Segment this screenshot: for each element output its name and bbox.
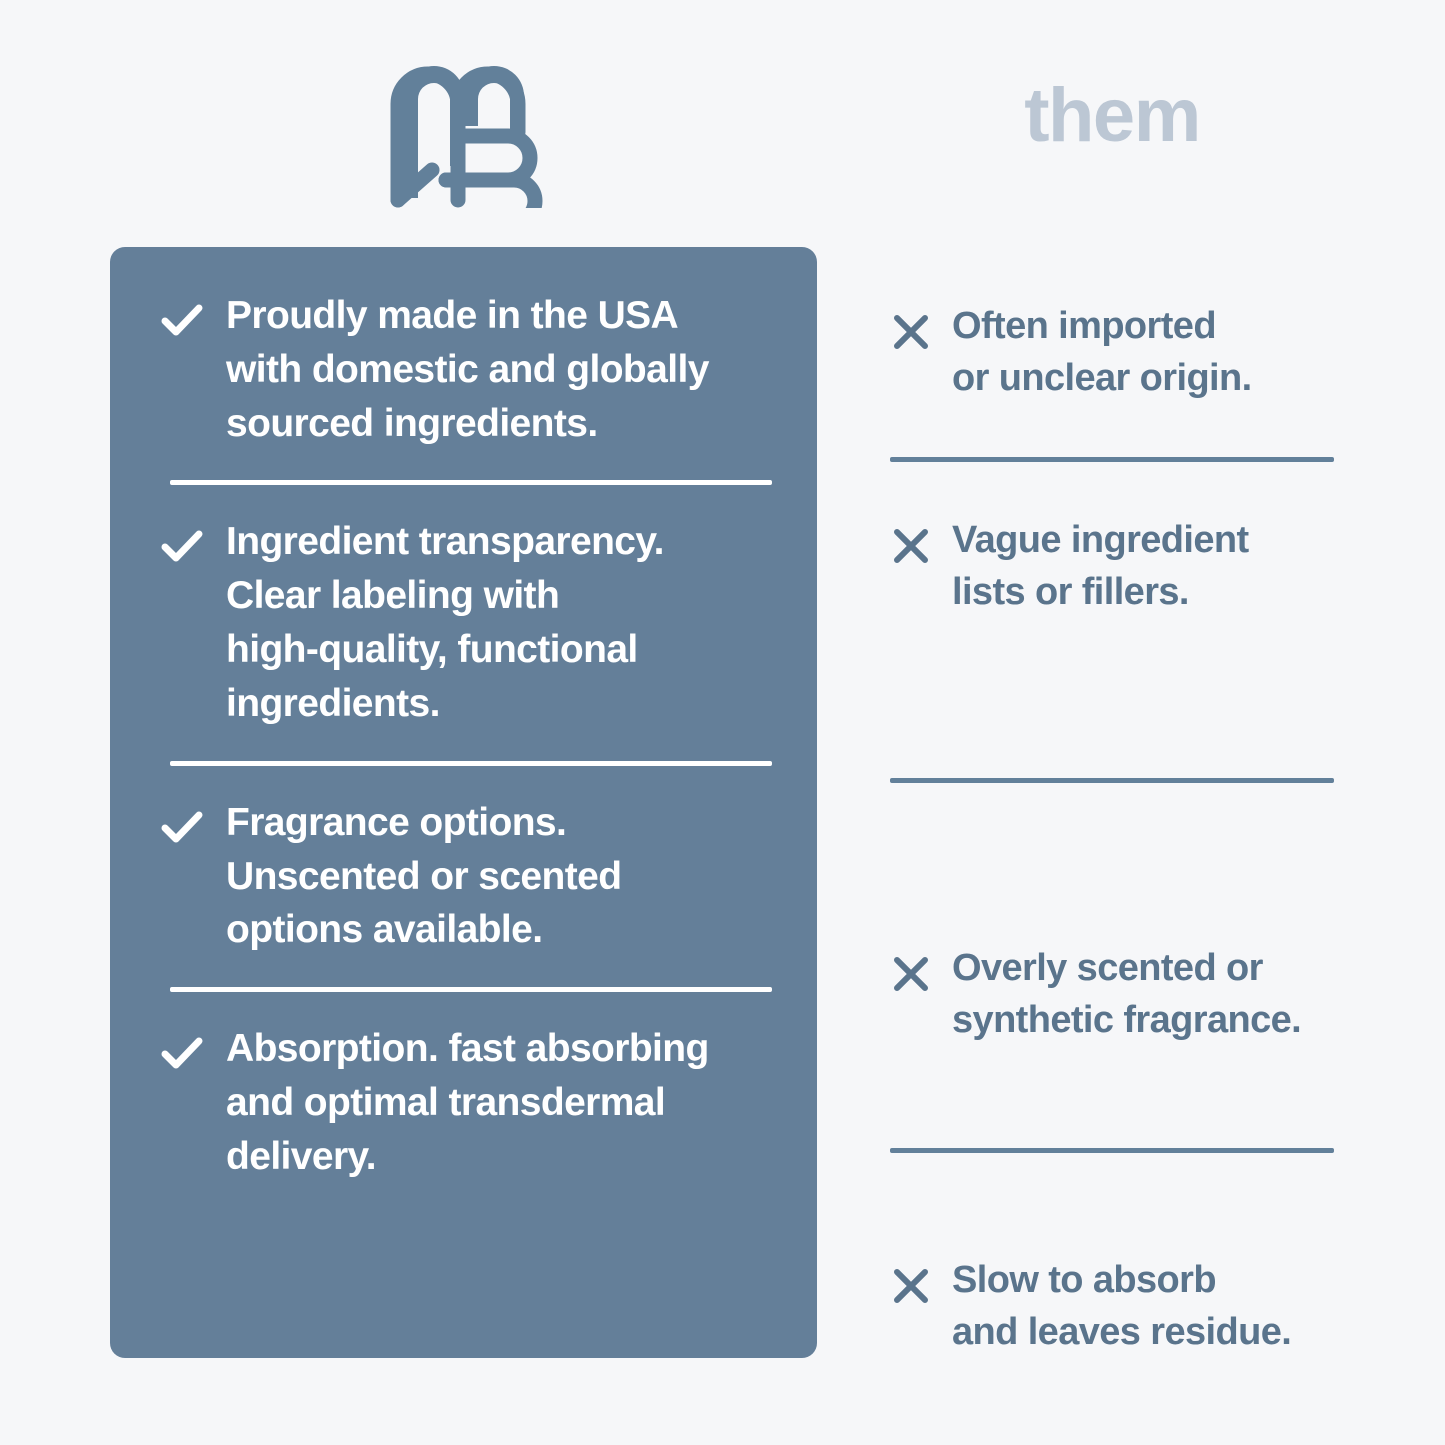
list-item: Overly scented or synthetic fragrance. <box>890 942 1334 1047</box>
brand-benefit-text: Proudly made in the USA with domestic an… <box>226 289 709 450</box>
spacer <box>890 1153 1334 1254</box>
them-drawback-text: Slow to absorb and leaves residue. <box>952 1254 1291 1359</box>
check-icon <box>160 796 204 844</box>
them-heading: them <box>890 78 1334 154</box>
check-icon <box>160 289 204 337</box>
brand-benefit-text: Absorption. fast absorbing and optimal t… <box>226 1022 709 1183</box>
spacer <box>890 405 1334 457</box>
check-icon <box>160 515 204 563</box>
them-drawback-text: Overly scented or synthetic fragrance. <box>952 942 1301 1047</box>
list-item: Ingredient transparency. Clear labeling … <box>160 515 765 730</box>
them-drawback-text: Often imported or unclear origin. <box>952 300 1252 405</box>
cross-icon <box>890 300 932 353</box>
cross-icon <box>890 942 932 995</box>
spacer <box>890 783 1334 942</box>
cross-icon <box>890 1254 932 1307</box>
divider <box>170 761 772 766</box>
list-item: Often imported or unclear origin. <box>890 300 1334 405</box>
brand-benefit-text: Fragrance options. Unscented or scented … <box>226 796 621 957</box>
list-item: Absorption. fast absorbing and optimal t… <box>160 1022 765 1183</box>
list-item: Slow to absorb and leaves residue. <box>890 1254 1334 1359</box>
cross-icon <box>890 514 932 567</box>
list-item: Proudly made in the USA with domestic an… <box>160 289 765 450</box>
divider <box>170 987 772 992</box>
spacer <box>890 619 1334 778</box>
them-drawback-text: Vague ingredient lists or fillers. <box>952 514 1249 619</box>
mb-monogram-logo-icon <box>390 66 552 208</box>
check-icon <box>160 1022 204 1070</box>
header: them <box>0 0 1445 247</box>
brand-benefits-card: Proudly made in the USA with domestic an… <box>110 247 817 1358</box>
spacer <box>890 1047 1334 1148</box>
spacer <box>890 462 1334 514</box>
divider <box>170 480 772 485</box>
list-item: Fragrance options. Unscented or scented … <box>160 796 765 957</box>
list-item: Vague ingredient lists or fillers. <box>890 514 1334 619</box>
brand-benefit-text: Ingredient transparency. Clear labeling … <box>226 515 664 730</box>
brand-benefits-list: Proudly made in the USA with domestic an… <box>160 289 765 1184</box>
them-drawbacks-list: Often imported or unclear origin. Vague … <box>890 300 1334 1359</box>
comparison-infographic: them Proudly made in the USA with domest… <box>0 0 1445 1445</box>
